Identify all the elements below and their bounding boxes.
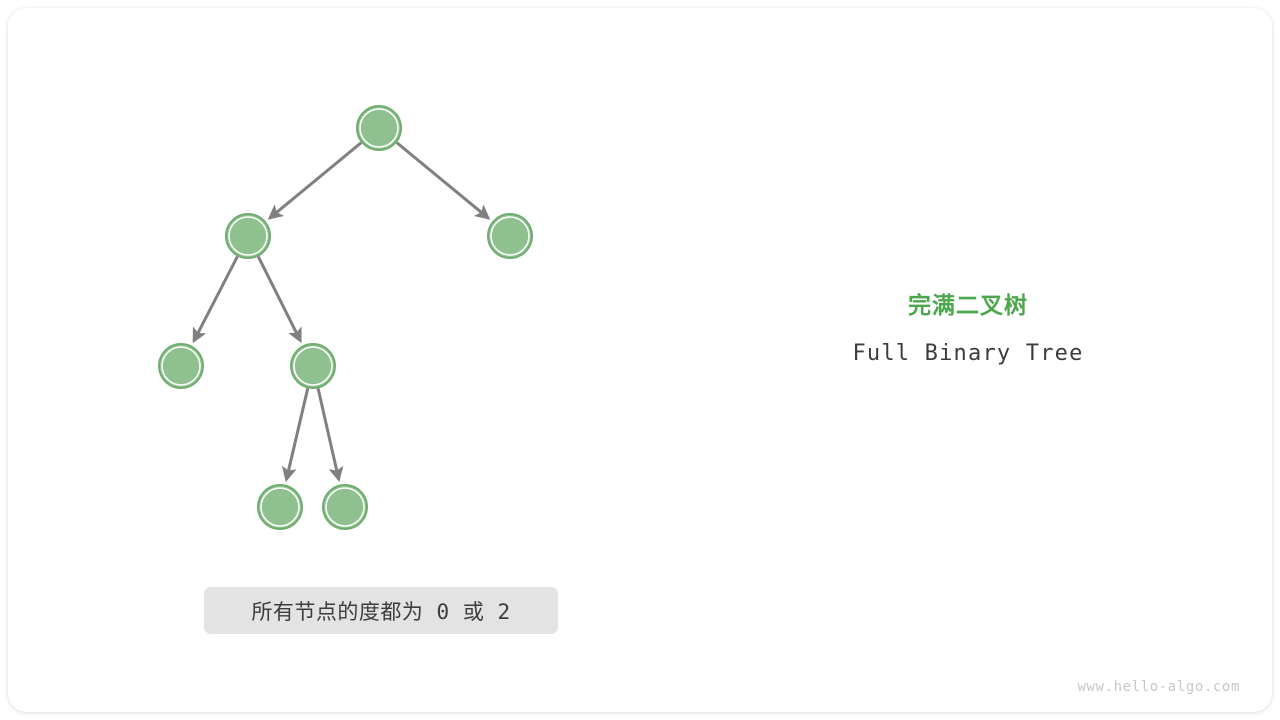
tree-node xyxy=(323,485,367,529)
tree-node xyxy=(258,485,302,529)
tree-node-inner-ring xyxy=(491,217,529,255)
tree-edge xyxy=(397,143,489,219)
tree-node xyxy=(159,344,203,388)
tree-edges xyxy=(194,143,489,480)
tree-edge xyxy=(194,256,238,341)
tree-node-inner-ring xyxy=(360,109,398,147)
watermark: www.hello-algo.com xyxy=(1077,679,1240,695)
legend-block: 完满二叉树 Full Binary Tree xyxy=(768,292,1168,367)
tree-edge xyxy=(270,143,362,219)
tree-node xyxy=(357,106,401,150)
tree-node xyxy=(291,344,335,388)
tree-node-inner-ring xyxy=(261,488,299,526)
tree-edge xyxy=(318,388,339,479)
tree-node-inner-ring xyxy=(162,347,200,385)
tree-node xyxy=(226,214,270,258)
tree-node-inner-ring xyxy=(294,347,332,385)
diagram-canvas: 完满二叉树 Full Binary Tree 所有节点的度都为 0 或 2 ww… xyxy=(0,0,1280,720)
tree-node xyxy=(488,214,532,258)
legend-title: 完满二叉树 xyxy=(768,292,1168,320)
tree-node-inner-ring xyxy=(326,488,364,526)
tree-node-inner-ring xyxy=(229,217,267,255)
caption-text: 所有节点的度都为 0 或 2 xyxy=(251,596,510,626)
legend-subtitle: Full Binary Tree xyxy=(768,341,1168,367)
caption-pill: 所有节点的度都为 0 或 2 xyxy=(204,587,558,634)
tree-edge xyxy=(258,257,300,341)
tree-edge xyxy=(286,388,307,479)
tree-nodes xyxy=(159,106,532,529)
